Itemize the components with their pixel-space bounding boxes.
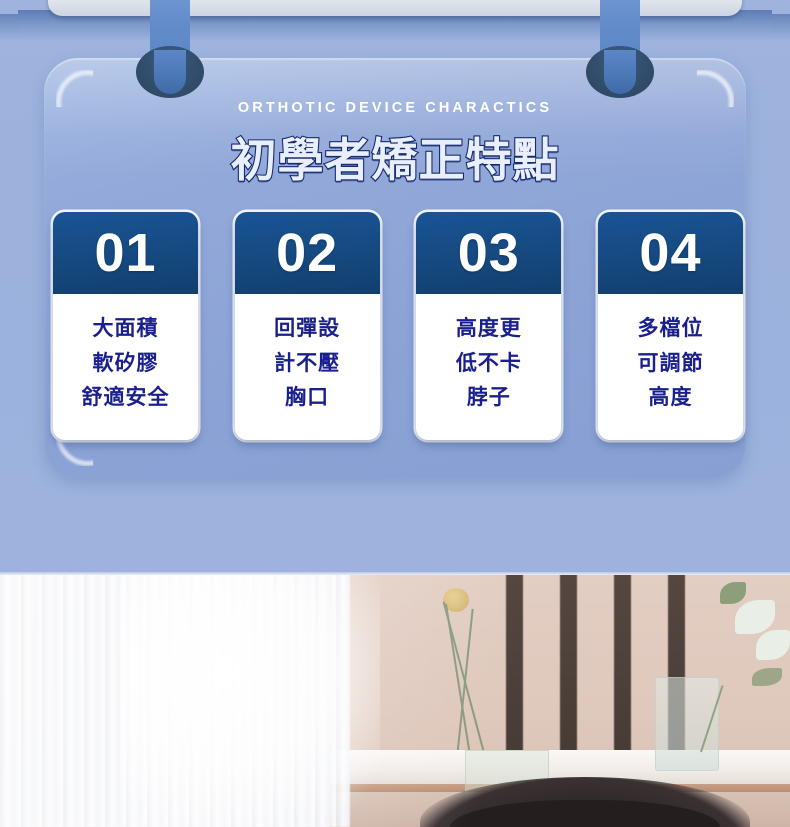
feature-card-line: 低不卡 (456, 349, 522, 379)
feature-card-body: 高度更 低不卡 脖子 (416, 294, 561, 440)
feature-card-line: 回彈設 (274, 314, 340, 344)
feature-card-list: 01 大面積 軟矽膠 舒適安全 02 回彈設 計不壓 胸口 (53, 212, 743, 440)
section-eyebrow: ORTHOTIC DEVICE CHARACTICS (0, 100, 790, 116)
feature-card-line: 多檔位 (637, 314, 703, 344)
feature-card-body: 多檔位 可調節 高度 (598, 294, 743, 440)
feature-card-line: 可調節 (637, 349, 703, 379)
section-headline: 初學者矯正特點 (0, 124, 790, 190)
strap-band-lower (154, 50, 186, 94)
feature-card: 01 大面積 軟矽膠 舒適安全 (53, 212, 198, 440)
feature-card-line: 軟矽膠 (93, 349, 159, 379)
strap-band-lower (604, 50, 636, 94)
feature-card-line: 計不壓 (274, 349, 340, 379)
feature-card-header: 02 (235, 212, 380, 294)
feature-card-line: 高度更 (456, 314, 522, 344)
feature-card: 03 高度更 低不卡 脖子 (416, 212, 561, 440)
lifestyle-photo (0, 572, 790, 827)
lifestyle-photo-section: 坐讀寫 全護12° 正姿不低頭 (0, 572, 790, 827)
feature-card-number: 03 (458, 226, 520, 280)
photo-wall-stripe (614, 572, 631, 762)
feature-card-header: 04 (598, 212, 743, 294)
photo-wall-stripe (506, 572, 523, 762)
product-detail-page: ORTHOTIC DEVICE CHARACTICS 初學者矯正特點 01 大面… (0, 0, 790, 827)
feature-card-line: 大面積 (93, 314, 159, 344)
feature-card-line: 高度 (648, 383, 692, 413)
feature-card-header: 01 (53, 212, 198, 294)
feature-card-body: 回彈設 計不壓 胸口 (235, 294, 380, 440)
feature-card-line: 舒適安全 (82, 383, 170, 413)
feature-card-number: 04 (639, 226, 701, 280)
feature-card-line: 胸口 (285, 383, 329, 413)
feature-card: 04 多檔位 可調節 高度 (598, 212, 743, 440)
photo-window-light (120, 572, 380, 827)
section-divider (0, 572, 790, 575)
features-section: ORTHOTIC DEVICE CHARACTICS 初學者矯正特點 01 大面… (0, 0, 790, 572)
feature-card-number: 01 (94, 226, 156, 280)
feature-card-body: 大面積 軟矽膠 舒適安全 (53, 294, 198, 440)
photo-wall-stripe (560, 572, 577, 762)
feature-card-header: 03 (416, 212, 561, 294)
feature-card-number: 02 (276, 226, 338, 280)
feature-card-line: 脖子 (467, 383, 511, 413)
feature-card: 02 回彈設 計不壓 胸口 (235, 212, 380, 440)
